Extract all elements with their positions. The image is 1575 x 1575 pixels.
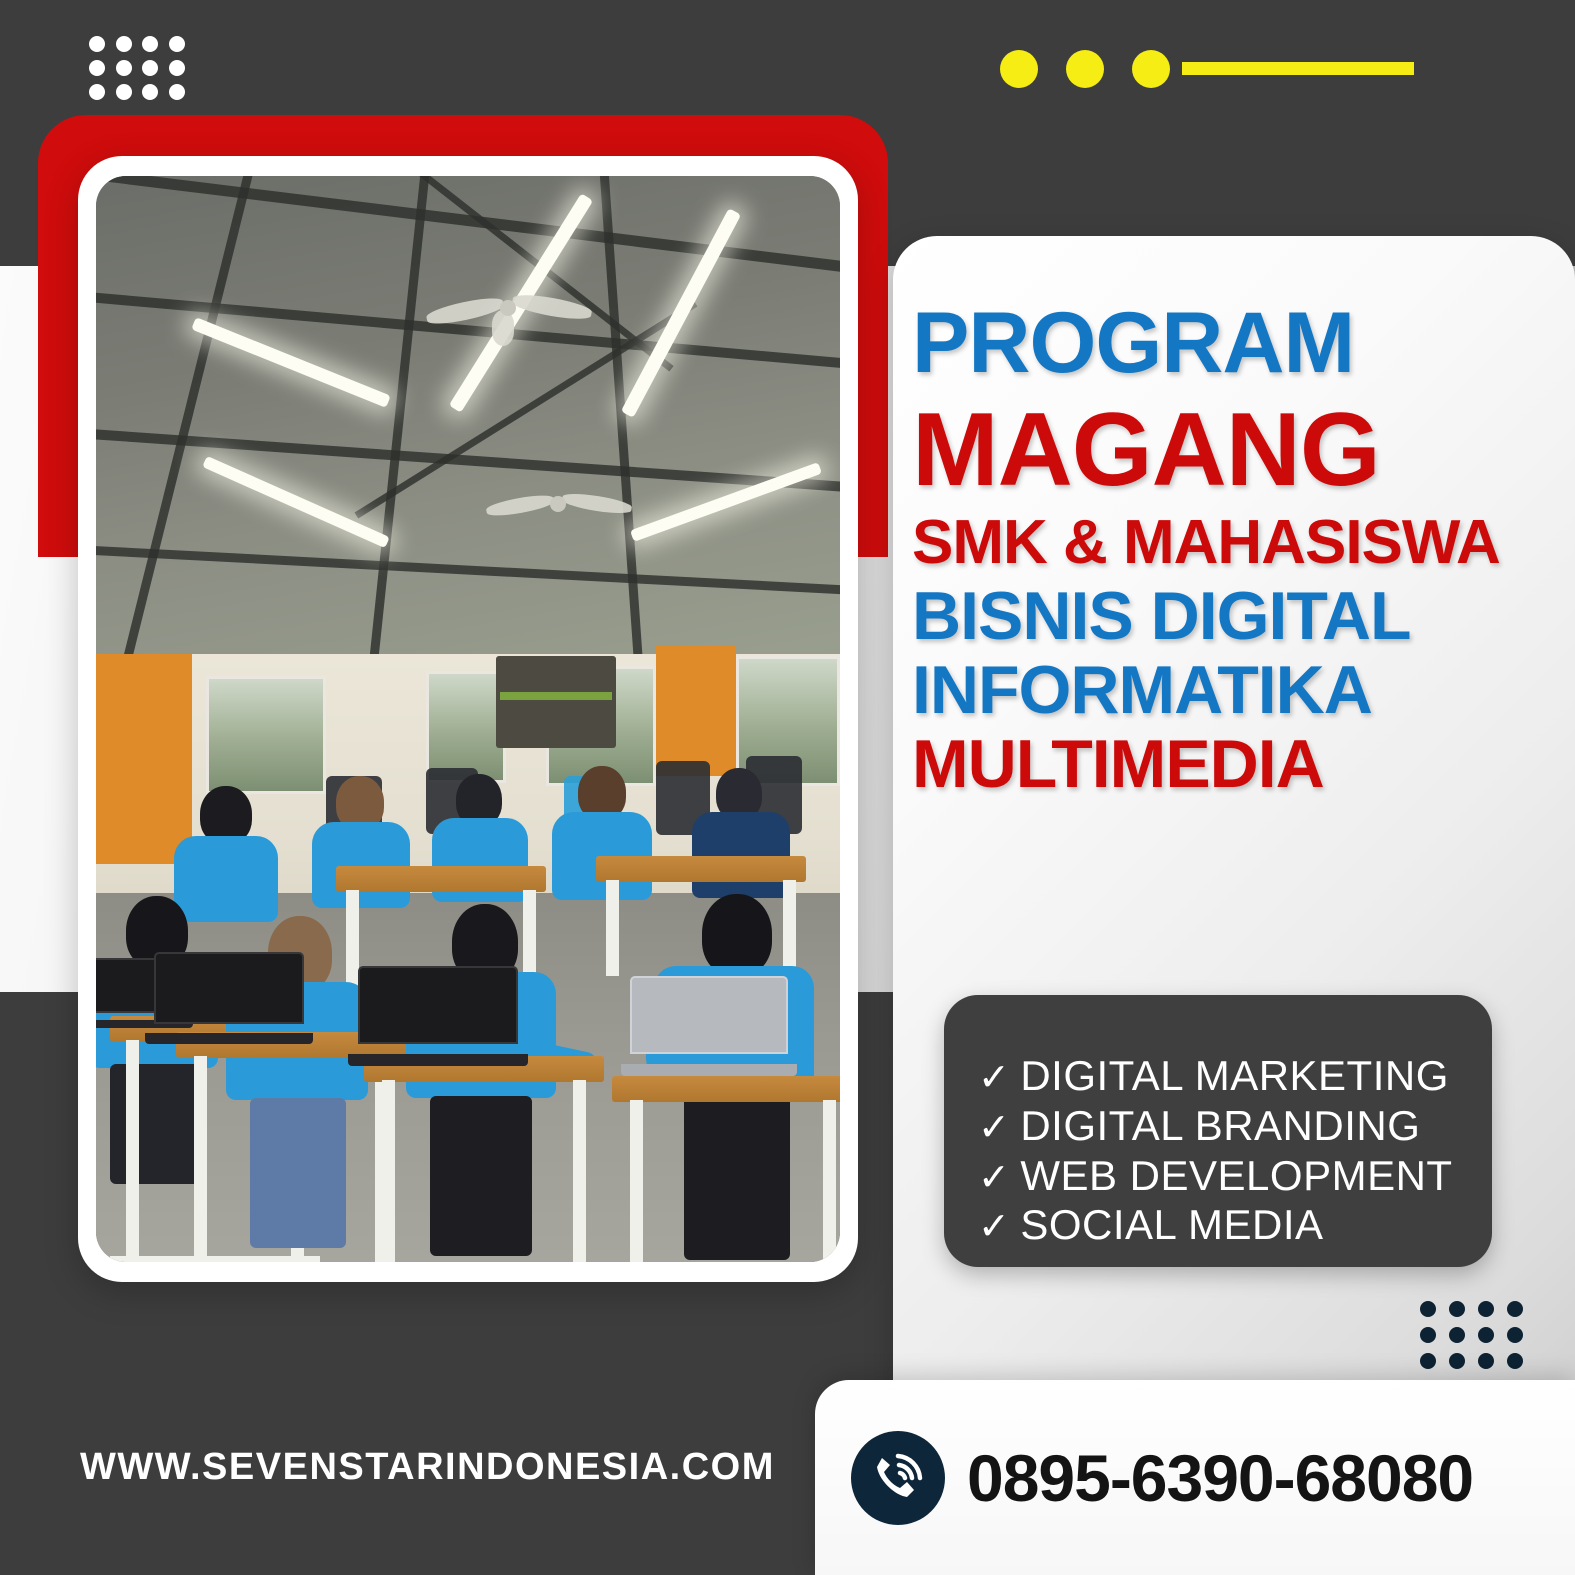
dot [1420,1353,1436,1369]
headline-line-magang: MAGANG [912,398,1562,502]
contact-card: 0895-6390-68080 [815,1380,1575,1575]
services-list-box: ✓ DIGITAL MARKETING ✓ DIGITAL BRANDING ✓… [944,995,1492,1267]
dot [1478,1301,1494,1317]
service-label: DIGITAL BRANDING [1020,1101,1420,1151]
dot [116,84,132,100]
photo-ceiling-fan [426,276,596,346]
service-label: SOCIAL MEDIA [1020,1200,1323,1250]
check-icon: ✓ [978,1205,1010,1250]
photo-laptop [154,952,304,1044]
photo-laptop [630,976,788,1076]
dot [1478,1327,1494,1343]
dot [142,84,158,100]
photo-laptop [358,966,518,1066]
photo-ceiling-fan [486,476,636,536]
dot [1420,1327,1436,1343]
yellow-dot [1000,50,1038,88]
dot-grid-icon-bottom-right [1413,1296,1529,1374]
photo-shelf-band [500,692,612,700]
dot [116,36,132,52]
headline-line-program: PROGRAM [912,300,1562,386]
photo-shelf [496,656,616,748]
photo-desk [364,1056,604,1262]
dot [1420,1301,1436,1317]
yellow-bar-decoration [1182,62,1414,75]
dot [142,60,158,76]
photo-window [426,671,506,783]
service-label: DIGITAL MARKETING [1020,1051,1449,1101]
dot [116,60,132,76]
service-item: ✓ WEB DEVELOPMENT [978,1151,1492,1201]
service-item: ✓ DIGITAL BRANDING [978,1101,1492,1151]
dot [1507,1301,1523,1317]
phone-number[interactable]: 0895-6390-68080 [967,1440,1473,1516]
dot [169,84,185,100]
dot [1507,1327,1523,1343]
yellow-dot [1132,50,1170,88]
dot [1478,1353,1494,1369]
dot [1449,1301,1465,1317]
dot [169,60,185,76]
dot [1449,1353,1465,1369]
dot-grid-icon-top-left [84,32,190,104]
dot [142,36,158,52]
photo-orange-wall [656,646,736,776]
dot [89,84,105,100]
dot [1449,1327,1465,1343]
headline-line-bisnis: BISNIS DIGITAL [912,582,1562,650]
check-icon: ✓ [978,1056,1010,1101]
check-icon: ✓ [978,1106,1010,1151]
dot [89,60,105,76]
classroom-photo [96,176,840,1262]
website-url[interactable]: WWW.SEVENSTARINDONESIA.COM [80,1446,800,1489]
photo-desk [612,1076,840,1262]
headline-line-multimedia: MULTIMEDIA [912,730,1562,798]
yellow-dots-decoration [1000,50,1170,88]
yellow-dot [1066,50,1104,88]
service-label: WEB DEVELOPMENT [1020,1151,1452,1201]
headline-line-smk: SMK & MAHASISWA [912,512,1562,574]
service-item: ✓ DIGITAL MARKETING [978,1051,1492,1101]
dot [169,36,185,52]
phone-call-icon[interactable] [851,1431,945,1525]
headline-block: PROGRAM MAGANG SMK & MAHASISWA BISNIS DI… [912,300,1562,798]
headline-line-informatika: INFORMATIKA [912,656,1562,724]
dot [89,36,105,52]
dot [1507,1353,1523,1369]
check-icon: ✓ [978,1156,1010,1201]
service-item: ✓ SOCIAL MEDIA [978,1200,1492,1250]
